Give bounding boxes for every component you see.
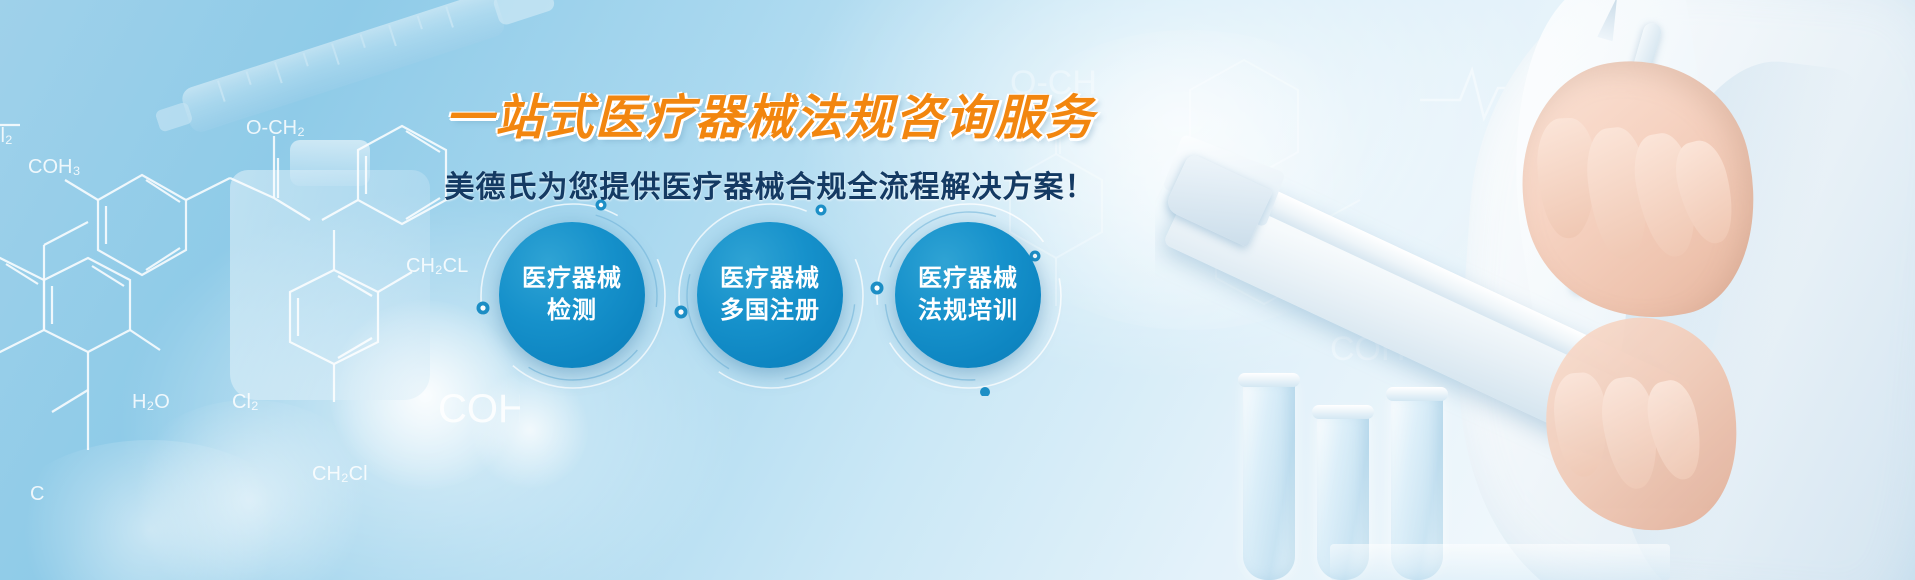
circle-label-line1: 医疗器械 [522, 263, 622, 295]
service-circle-medical-device-multi-country-registration[interactable]: 医疗器械 多国注册 [697, 222, 843, 368]
circle-label-line2: 多国注册 [720, 295, 820, 327]
service-circle-group: 医疗器械 检测 医疗器械 多国注册 [0, 222, 1540, 368]
circle-label-line2: 法规培训 [918, 295, 1018, 327]
chem-label-cl2-b: Cl₂ [232, 391, 259, 413]
test-tube-rim [1312, 405, 1374, 419]
service-circle-medical-device-regulatory-training[interactable]: 医疗器械 法规培训 [895, 222, 1041, 368]
banner-headings: 一站式医疗器械法规咨询服务 美德氏为您提供医疗器械合规全流程解决方案！ [0, 92, 1540, 206]
banner-title: 一站式医疗器械法规咨询服务 [0, 92, 1540, 146]
chem-label-coh-ghost: COH [438, 387, 520, 431]
promo-banner: Cl₂ COH₃ O-CH₂ CH₂CL H₂O Cl₂ CH₂Cl Cl C … [0, 0, 1915, 580]
test-tube [1243, 380, 1295, 580]
circle-label-line1: 医疗器械 [720, 263, 820, 295]
service-circle-body[interactable]: 医疗器械 检测 [499, 222, 645, 368]
banner-subtitle: 美德氏为您提供医疗器械合规全流程解决方案！ [0, 162, 1540, 206]
chem-label-h2o: H₂O [132, 391, 170, 413]
test-tube-rim [1386, 387, 1448, 401]
service-circle-body[interactable]: 医疗器械 多国注册 [697, 222, 843, 368]
test-tube-rack [1330, 544, 1670, 580]
test-tube-rim [1238, 373, 1300, 387]
circle-label-line1: 医疗器械 [918, 263, 1018, 295]
service-circle-body[interactable]: 医疗器械 法规培训 [895, 222, 1041, 368]
chem-label-ch2cl-lower: CH₂Cl [312, 463, 368, 485]
finger [1551, 371, 1610, 478]
chem-label-c-edge: C [30, 483, 44, 500]
service-circle-medical-device-testing[interactable]: 医疗器械 检测 [499, 222, 645, 368]
circle-label-line2: 检测 [547, 295, 597, 327]
